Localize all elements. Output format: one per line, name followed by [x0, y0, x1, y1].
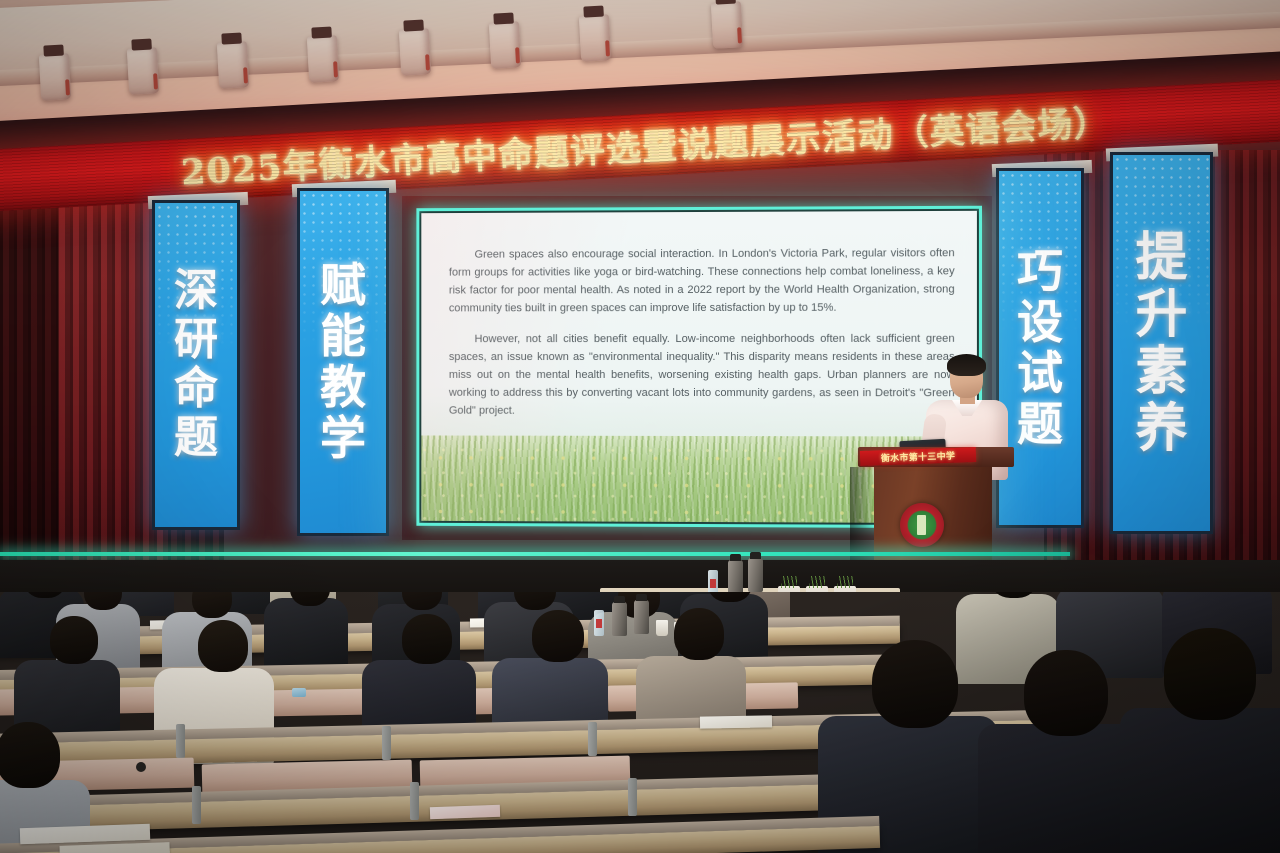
audience-head [198, 620, 248, 672]
led-panel-text: 深 研 命 题 [155, 203, 237, 527]
led-char: 升 [1135, 288, 1187, 341]
stage-spotlight-icon [711, 1, 743, 49]
school-emblem-icon [900, 503, 944, 547]
audience-head [50, 616, 98, 664]
led-panel-text: 巧 设 试 题 [999, 171, 1081, 525]
led-char: 题 [174, 416, 218, 461]
audience-torso [1120, 708, 1280, 853]
thermos-flask [748, 558, 763, 592]
led-char: 设 [1017, 299, 1063, 346]
desk-divider [588, 722, 597, 756]
desk-divider [176, 724, 185, 758]
podium-nameplate-text: 衡水市第十三中学 [881, 449, 956, 465]
stage-spotlight-icon [399, 28, 431, 76]
audience-torso [264, 598, 348, 668]
paper-cup [656, 620, 668, 636]
led-char: 题 [1017, 401, 1063, 448]
stage-edge-led-strip [0, 552, 1070, 556]
audience-seating [0, 592, 1280, 853]
stage-spotlight-icon [217, 41, 249, 89]
desk-divider [192, 786, 201, 824]
led-char: 研 [174, 318, 218, 363]
thermos-flask [612, 602, 627, 636]
stage-spotlight-icon [39, 53, 71, 101]
led-panel-right-outer: 提 升 素 养 [1110, 152, 1213, 534]
speaker-hair [947, 354, 986, 376]
led-panel-text: 赋 能 教 学 [300, 191, 386, 533]
led-char: 提 [1135, 231, 1187, 284]
desk-divider [410, 782, 419, 820]
slide-paragraph: Green spaces also encourage social inter… [449, 245, 955, 318]
audience-head [1164, 628, 1256, 720]
auditorium-photo: 2025年衡水市高中命题评选暨说题展示活动（英语会场） 深 研 命 题 赋 能 … [0, 0, 1280, 853]
thermos-flask [728, 560, 743, 594]
desk-divider [382, 726, 391, 760]
audience-head [674, 608, 724, 660]
led-char: 赋 [320, 262, 366, 309]
stage-spotlight-icon [489, 21, 521, 69]
led-char: 命 [174, 367, 218, 412]
audience-head [1024, 650, 1108, 736]
audience-head [0, 722, 60, 788]
led-panel-text: 提 升 素 养 [1113, 155, 1210, 531]
audience-head [402, 614, 452, 664]
led-char: 素 [1135, 345, 1187, 398]
led-panel-left-outer: 深 研 命 题 [152, 200, 240, 530]
stage-spotlight-icon [579, 14, 611, 62]
led-char: 试 [1017, 350, 1063, 397]
audience-head [532, 610, 584, 662]
stage-spotlight-icon [307, 35, 339, 83]
led-char: 巧 [1017, 248, 1063, 295]
desk-divider [628, 778, 637, 816]
led-char: 学 [320, 415, 366, 462]
thermos-flask [634, 600, 649, 634]
audience-head [872, 640, 958, 728]
stage-spotlight-icon [127, 47, 159, 95]
paper-document [700, 715, 772, 728]
led-char: 深 [174, 269, 218, 314]
desk-knob [136, 762, 146, 772]
led-char: 养 [1135, 402, 1187, 455]
smartphone [292, 688, 306, 697]
slide-paragraph: However, not all cities benefit equally.… [449, 331, 955, 421]
led-char: 教 [320, 364, 366, 411]
water-bottle [594, 610, 604, 636]
led-panel-left-inner: 赋 能 教 学 [297, 188, 389, 536]
led-char: 能 [320, 313, 366, 360]
paper-document [430, 805, 500, 819]
